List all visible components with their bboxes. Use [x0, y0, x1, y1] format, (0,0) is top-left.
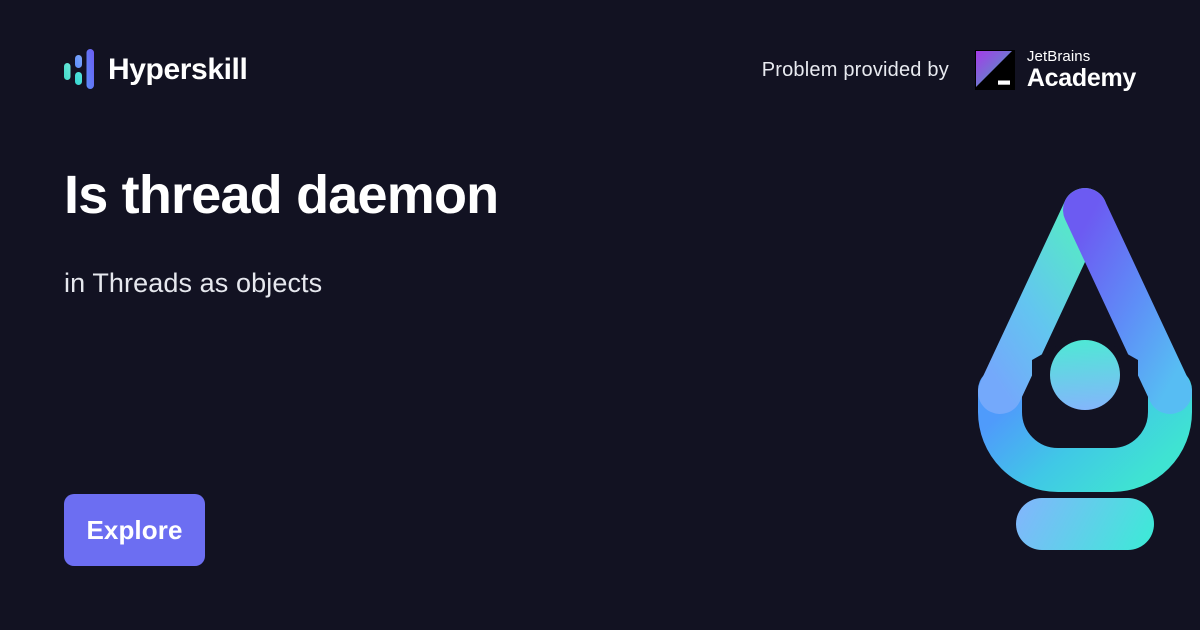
page-title: Is thread daemon	[64, 165, 764, 225]
hyperskill-nib-mark-icon	[970, 180, 1200, 560]
topic-subtitle: in Threads as objects	[64, 267, 764, 299]
jetbrains-academy-lockup[interactable]: JetBrains Academy	[975, 49, 1136, 91]
hyperskill-brand-name: Hyperskill	[108, 55, 247, 85]
pill-bar	[1016, 498, 1154, 550]
jetbrains-name: JetBrains	[1027, 49, 1136, 64]
problem-card: Hyperskill Problem provided by	[0, 0, 1200, 630]
card-header: Hyperskill Problem provided by	[0, 0, 1200, 140]
problem-content: Is thread daemon in Threads as objects	[64, 165, 764, 300]
jetbrains-square-logo-icon	[975, 50, 1015, 90]
explore-button[interactable]: Explore	[64, 494, 205, 566]
provided-by-label: Problem provided by	[762, 59, 949, 82]
hyperskill-bars-logo-icon	[64, 49, 94, 91]
academy-name: Academy	[1027, 66, 1136, 91]
inner-circle	[1050, 340, 1120, 410]
hyperskill-brand[interactable]: Hyperskill	[64, 46, 247, 94]
jetbrains-academy-wordmark: JetBrains Academy	[1027, 49, 1136, 91]
problem-provider: Problem provided by	[762, 44, 1136, 96]
